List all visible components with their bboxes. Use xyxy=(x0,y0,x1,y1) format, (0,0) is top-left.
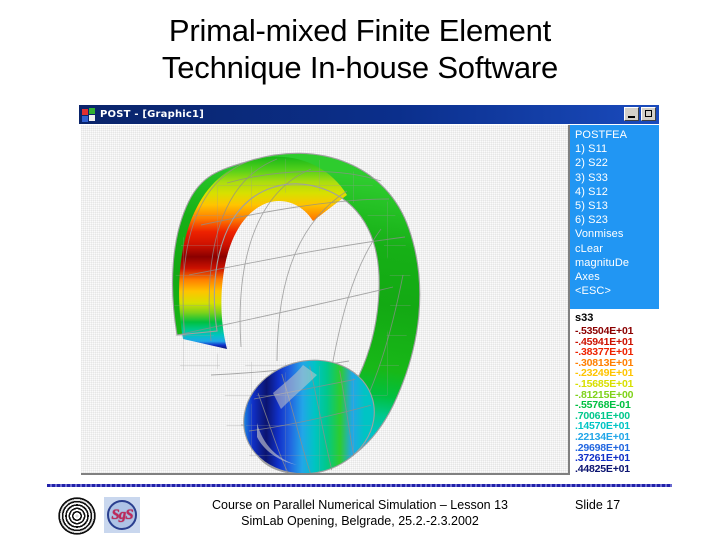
window-titlebar[interactable]: POST - [Graphic1] xyxy=(79,105,659,124)
page-title: Primal-mixed Finite Element Technique In… xyxy=(0,12,720,86)
postfea-command-menu: POSTFEA 1) S11 2) S22 3) S33 4) S12 5) S… xyxy=(570,125,659,309)
menu-item-s11[interactable]: 1) S11 xyxy=(575,142,659,156)
footer-line-1: Course on Parallel Numerical Simulation … xyxy=(160,497,560,513)
page-title-line-2: Technique In-house Software xyxy=(0,49,720,86)
post-application-window: POST - [Graphic1] xyxy=(79,105,659,480)
window-buttons xyxy=(624,107,656,121)
menu-item-postfea[interactable]: POSTFEA xyxy=(575,128,659,142)
application-icon xyxy=(82,108,96,122)
sgs-logo-icon: SgS xyxy=(104,497,140,533)
footer-text: Course on Parallel Numerical Simulation … xyxy=(160,497,560,529)
legend-row: .44825E+01 xyxy=(575,464,659,475)
window-client-area: POSTFEA 1) S11 2) S22 3) S33 4) S12 5) S… xyxy=(79,124,659,480)
menu-item-s23[interactable]: 6) S23 xyxy=(575,213,659,227)
slide-number: Slide 17 xyxy=(575,497,675,513)
menu-item-vonmises[interactable]: Vonmises xyxy=(575,227,659,241)
page-title-line-1: Primal-mixed Finite Element xyxy=(0,12,720,49)
footer-divider xyxy=(47,484,672,487)
menu-item-s12[interactable]: 4) S12 xyxy=(575,185,659,199)
graphics-canvas[interactable] xyxy=(81,125,570,475)
restore-button[interactable] xyxy=(641,107,656,121)
side-panel: POSTFEA 1) S11 2) S22 3) S33 4) S12 5) S… xyxy=(570,124,659,480)
fea-stress-contour-model xyxy=(81,125,570,475)
sgs-logo-text: SgS xyxy=(104,497,140,533)
footer-line-2: SimLab Opening, Belgrade, 25.2.-2.3.2002 xyxy=(160,513,560,529)
minimize-button[interactable] xyxy=(624,107,639,121)
legend-row: -.15685E+01 xyxy=(575,379,659,390)
menu-item-magnitude[interactable]: magnituDe xyxy=(575,256,659,270)
menu-item-clear[interactable]: cLear xyxy=(575,242,659,256)
menu-item-s33[interactable]: 3) S33 xyxy=(575,171,659,185)
minimize-icon xyxy=(628,116,635,118)
window-title-text: POST - [Graphic1] xyxy=(100,109,204,120)
legend-title: s33 xyxy=(575,312,659,325)
legend-value-list: -.53504E+01-.45941E+01-.38377E+01-.30813… xyxy=(575,326,659,474)
sphere-logo-icon xyxy=(58,497,96,535)
menu-item-s22[interactable]: 2) S22 xyxy=(575,156,659,170)
menu-item-s13[interactable]: 5) S13 xyxy=(575,199,659,213)
menu-item-axes[interactable]: Axes xyxy=(575,270,659,284)
legend-row: .22134E+01 xyxy=(575,432,659,443)
stress-legend: s33 -.53504E+01-.45941E+01-.38377E+01-.3… xyxy=(570,310,659,478)
restore-icon xyxy=(645,110,652,117)
legend-row: -.53504E+01 xyxy=(575,326,659,337)
menu-item-esc[interactable]: <ESC> xyxy=(575,284,659,298)
